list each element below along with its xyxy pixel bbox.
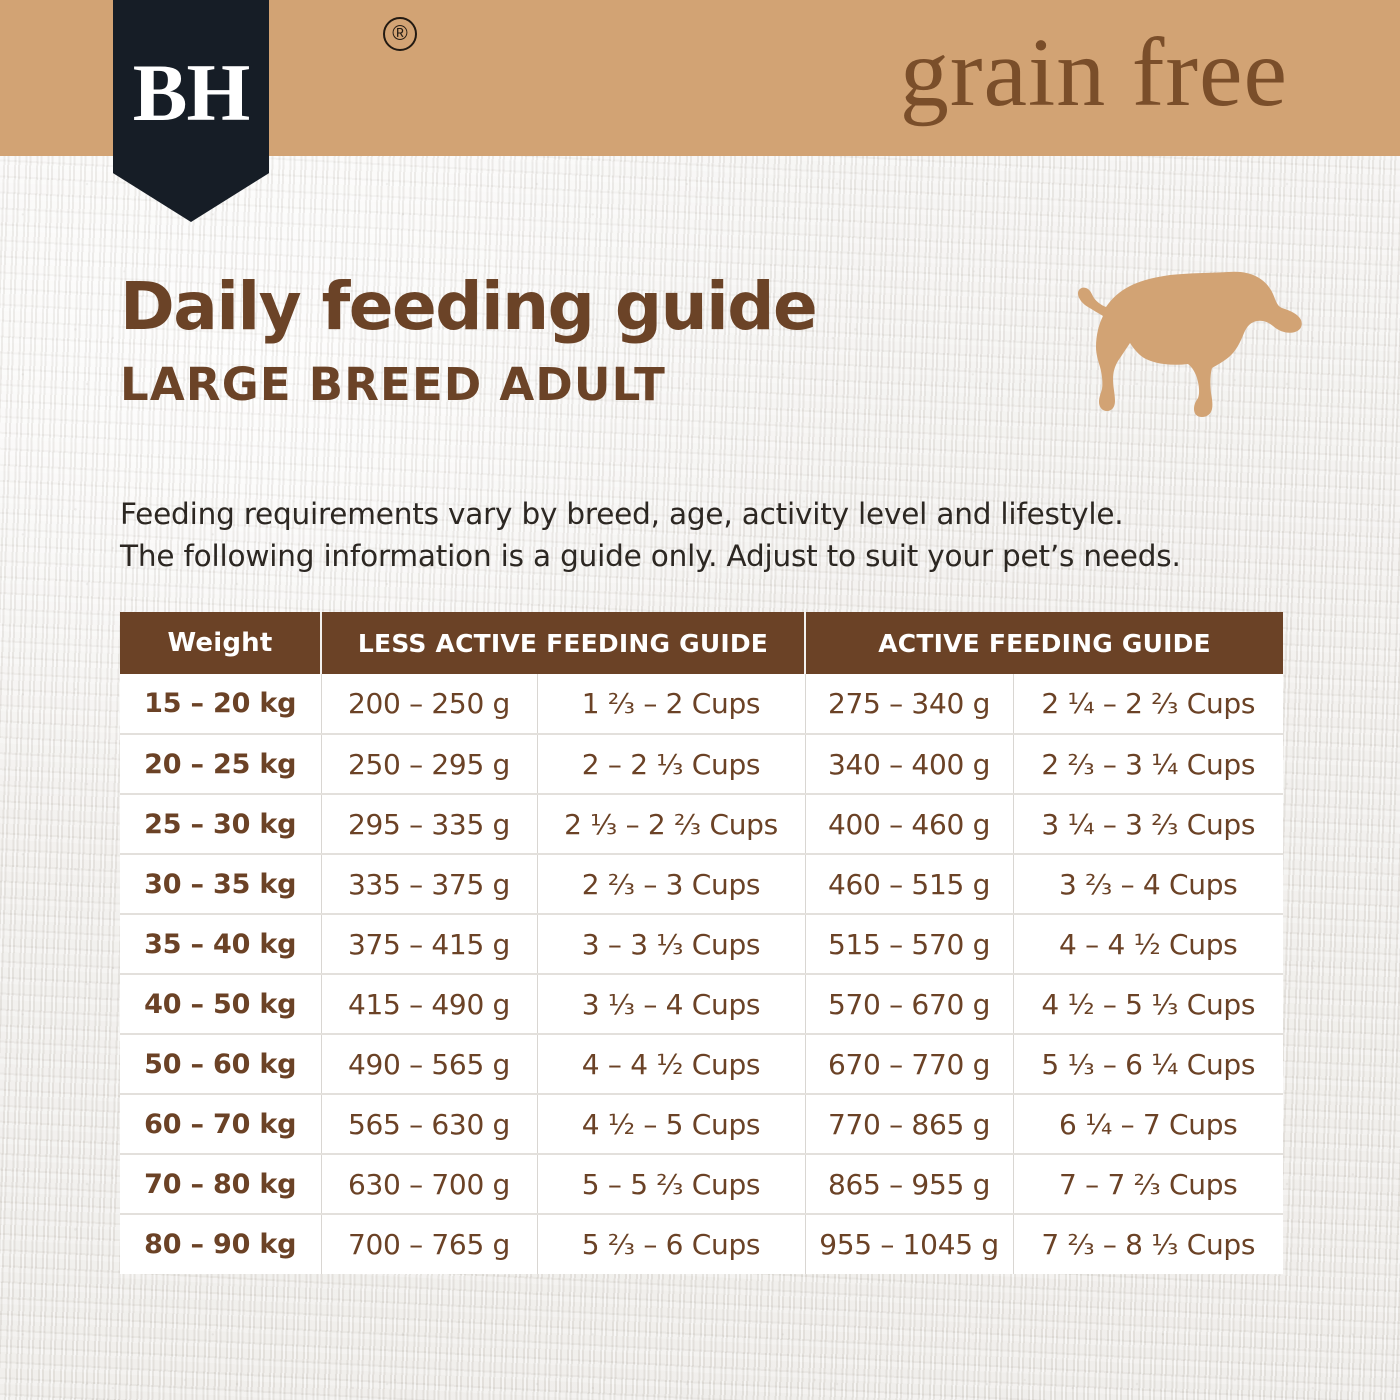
dog-silhouette-icon [1060, 268, 1310, 428]
cell-active-cups: 4 ½ – 5 ⅓ Cups [1013, 974, 1283, 1034]
cell-weight: 25 – 30 kg [120, 794, 321, 854]
cell-less-active-grams: 250 – 295 g [321, 734, 537, 794]
cell-active-grams: 460 – 515 g [805, 854, 1013, 914]
table-row: 70 – 80 kg630 – 700 g5 – 5 ⅔ Cups865 – 9… [120, 1154, 1283, 1214]
cell-active-grams: 340 – 400 g [805, 734, 1013, 794]
cell-weight: 20 – 25 kg [120, 734, 321, 794]
column-header-less-active: LESS ACTIVE FEEDING GUIDE [321, 612, 805, 674]
cell-active-grams: 770 – 865 g [805, 1094, 1013, 1154]
table-row: 20 – 25 kg250 – 295 g2 – 2 ⅓ Cups340 – 4… [120, 734, 1283, 794]
table-row: 35 – 40 kg375 – 415 g3 – 3 ⅓ Cups515 – 5… [120, 914, 1283, 974]
cell-less-active-cups: 2 ⅓ – 2 ⅔ Cups [537, 794, 805, 854]
cell-less-active-grams: 335 – 375 g [321, 854, 537, 914]
column-header-weight: Weight [120, 612, 321, 674]
column-header-active: ACTIVE FEEDING GUIDE [805, 612, 1283, 674]
description-line-1: Feeding requirements vary by breed, age,… [120, 494, 1300, 536]
cell-active-grams: 400 – 460 g [805, 794, 1013, 854]
cell-less-active-grams: 630 – 700 g [321, 1154, 537, 1214]
cell-less-active-cups: 1 ⅔ – 2 Cups [537, 674, 805, 734]
cell-less-active-grams: 700 – 765 g [321, 1214, 537, 1274]
cell-active-cups: 2 ¼ – 2 ⅔ Cups [1013, 674, 1283, 734]
table-row: 50 – 60 kg490 – 565 g4 – 4 ½ Cups670 – 7… [120, 1034, 1283, 1094]
table-row: 30 – 35 kg335 – 375 g2 ⅔ – 3 Cups460 – 5… [120, 854, 1283, 914]
cell-weight: 70 – 80 kg [120, 1154, 321, 1214]
cell-active-cups: 7 ⅔ – 8 ⅓ Cups [1013, 1214, 1283, 1274]
cell-weight: 35 – 40 kg [120, 914, 321, 974]
table-row: 15 – 20 kg200 – 250 g1 ⅔ – 2 Cups275 – 3… [120, 674, 1283, 734]
table-row: 25 – 30 kg295 – 335 g2 ⅓ – 2 ⅔ Cups400 –… [120, 794, 1283, 854]
cell-less-active-cups: 4 – 4 ½ Cups [537, 1034, 805, 1094]
cell-active-cups: 2 ⅔ – 3 ¼ Cups [1013, 734, 1283, 794]
cell-weight: 50 – 60 kg [120, 1034, 321, 1094]
description-text: Feeding requirements vary by breed, age,… [120, 494, 1300, 578]
cell-less-active-cups: 2 – 2 ⅓ Cups [537, 734, 805, 794]
title-block: Daily feeding guide LARGE BREED ADULT [120, 274, 1080, 407]
cell-less-active-cups: 5 – 5 ⅔ Cups [537, 1154, 805, 1214]
cell-less-active-cups: 5 ⅔ – 6 Cups [537, 1214, 805, 1274]
cell-weight: 60 – 70 kg [120, 1094, 321, 1154]
table-row: 60 – 70 kg565 – 630 g4 ½ – 5 Cups770 – 8… [120, 1094, 1283, 1154]
table-row: 80 – 90 kg700 – 765 g5 ⅔ – 6 Cups955 – 1… [120, 1214, 1283, 1274]
table-body: 15 – 20 kg200 – 250 g1 ⅔ – 2 Cups275 – 3… [120, 674, 1283, 1274]
cell-less-active-cups: 2 ⅔ – 3 Cups [537, 854, 805, 914]
cell-active-grams: 275 – 340 g [805, 674, 1013, 734]
cell-less-active-grams: 295 – 335 g [321, 794, 537, 854]
cell-active-cups: 4 – 4 ½ Cups [1013, 914, 1283, 974]
registered-trademark-icon: ® [383, 17, 417, 51]
cell-weight: 40 – 50 kg [120, 974, 321, 1034]
cell-active-grams: 515 – 570 g [805, 914, 1013, 974]
cell-active-grams: 570 – 670 g [805, 974, 1013, 1034]
grain-free-tagline: grain free [900, 16, 1288, 132]
cell-active-cups: 3 ¼ – 3 ⅔ Cups [1013, 794, 1283, 854]
cell-less-active-grams: 490 – 565 g [321, 1034, 537, 1094]
table-header: Weight LESS ACTIVE FEEDING GUIDE ACTIVE … [120, 612, 1283, 674]
cell-less-active-grams: 200 – 250 g [321, 674, 537, 734]
cell-active-cups: 3 ⅔ – 4 Cups [1013, 854, 1283, 914]
cell-active-grams: 670 – 770 g [805, 1034, 1013, 1094]
cell-weight: 15 – 20 kg [120, 674, 321, 734]
cell-less-active-grams: 375 – 415 g [321, 914, 537, 974]
page-subtitle: LARGE BREED ADULT [120, 362, 1080, 407]
page-title: Daily feeding guide [120, 274, 1080, 340]
cell-less-active-cups: 3 – 3 ⅓ Cups [537, 914, 805, 974]
feeding-guide-table: Weight LESS ACTIVE FEEDING GUIDE ACTIVE … [120, 612, 1283, 1274]
description-line-2: The following information is a guide onl… [120, 536, 1300, 578]
cell-less-active-grams: 415 – 490 g [321, 974, 537, 1034]
cell-less-active-cups: 3 ⅓ – 4 Cups [537, 974, 805, 1034]
cell-active-cups: 7 – 7 ⅔ Cups [1013, 1154, 1283, 1214]
table-row: 40 – 50 kg415 – 490 g3 ⅓ – 4 Cups570 – 6… [120, 974, 1283, 1034]
cell-active-cups: 5 ⅓ – 6 ¼ Cups [1013, 1034, 1283, 1094]
cell-weight: 30 – 35 kg [120, 854, 321, 914]
table-header-row: Weight LESS ACTIVE FEEDING GUIDE ACTIVE … [120, 612, 1283, 674]
cell-less-active-cups: 4 ½ – 5 Cups [537, 1094, 805, 1154]
cell-active-grams: 865 – 955 g [805, 1154, 1013, 1214]
cell-active-grams: 955 – 1045 g [805, 1214, 1013, 1274]
cell-active-cups: 6 ¼ – 7 Cups [1013, 1094, 1283, 1154]
brand-badge-label: BH [133, 52, 249, 134]
cell-weight: 80 – 90 kg [120, 1214, 321, 1274]
cell-less-active-grams: 565 – 630 g [321, 1094, 537, 1154]
